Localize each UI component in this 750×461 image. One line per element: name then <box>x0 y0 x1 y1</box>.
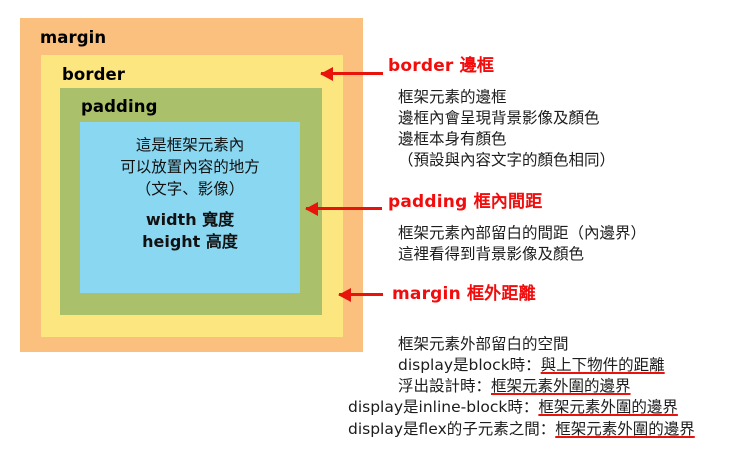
padding-body-line: 這裡看得到背景影像及顏色 <box>398 244 646 265</box>
margin-section-body: 框架元素外部留白的空間 display是block時：與上下物件的距離 浮出設計… <box>398 334 665 397</box>
padding-section-body: 框架元素內部留白的間距（內邊界） 這裡看得到背景影像及顏色 <box>398 223 646 265</box>
border-body-line: 邊框內會呈現背景影像及顏色 <box>398 108 615 129</box>
border-box-area: border padding 這是框架元素內 可以放置內容的地方 （文字、影像）… <box>41 55 343 337</box>
content-box-area: 這是框架元素內 可以放置內容的地方 （文字、影像） width 寬度 heigh… <box>80 122 300 293</box>
margin-float-underlined: 框架元素外圍的邊界 <box>491 377 631 395</box>
arrow-left-icon-padding <box>306 207 382 210</box>
content-text-line: 這是框架元素內 <box>136 134 245 156</box>
border-body-line: 邊框本身有顏色 <box>398 129 615 150</box>
arrow-left-icon-border <box>321 72 383 75</box>
padding-box-label: padding <box>81 99 157 116</box>
arrow-left-icon-margin <box>339 293 383 296</box>
content-text-line: （文字、影像） <box>136 178 245 200</box>
margin-flex-underlined: 框架元素外圍的邊界 <box>555 420 695 438</box>
border-body-line: （預設與內容文字的顏色相同） <box>398 150 615 171</box>
annotations-panel: border 邊框 框架元素的邊框 邊框內會呈現背景影像及顏色 邊框本身有顏色 … <box>386 0 750 461</box>
content-width-label: width 寬度 <box>146 209 234 231</box>
margin-block-underlined: 與上下物件的距離 <box>541 356 665 374</box>
margin-float-prefix: 浮出設計時： <box>398 377 491 395</box>
padding-box-area: padding 這是框架元素內 可以放置內容的地方 （文字、影像） width … <box>60 88 322 315</box>
margin-body-line-inline: display是inline-block時：框架元素外圍的邊界 <box>348 396 695 418</box>
padding-body-line: 框架元素內部留白的間距（內邊界） <box>398 223 646 244</box>
margin-body-line-flex: display是flex的子元素之間：框架元素外圍的邊界 <box>348 418 695 440</box>
border-section-body: 框架元素的邊框 邊框內會呈現背景影像及顏色 邊框本身有顏色 （預設與內容文字的顏… <box>398 87 615 171</box>
border-section-heading: border 邊框 <box>388 58 494 75</box>
margin-block-prefix: display是block時： <box>398 356 541 374</box>
margin-section-body-wide: display是inline-block時：框架元素外圍的邊界 display是… <box>348 396 695 441</box>
margin-section-heading: margin 框外距離 <box>392 286 536 303</box>
margin-inline-underlined: 框架元素外圍的邊界 <box>538 398 678 416</box>
margin-inline-prefix: display是inline-block時： <box>348 398 538 416</box>
padding-section-heading: padding 框內間距 <box>388 194 542 211</box>
box-model-diagram: margin border padding 這是框架元素內 可以放置內容的地方 … <box>20 18 363 352</box>
margin-body-line-float: 浮出設計時：框架元素外圍的邊界 <box>398 376 665 397</box>
content-height-label: height 高度 <box>142 231 238 253</box>
margin-flex-prefix: display是flex的子元素之間： <box>348 420 555 438</box>
border-body-line: 框架元素的邊框 <box>398 87 615 108</box>
margin-body-line: 框架元素外部留白的空間 <box>398 334 665 355</box>
margin-body-line-block: display是block時：與上下物件的距離 <box>398 355 665 376</box>
content-text-line: 可以放置內容的地方 <box>120 156 260 178</box>
border-box-label: border <box>62 67 125 84</box>
margin-box-label: margin <box>40 30 106 47</box>
